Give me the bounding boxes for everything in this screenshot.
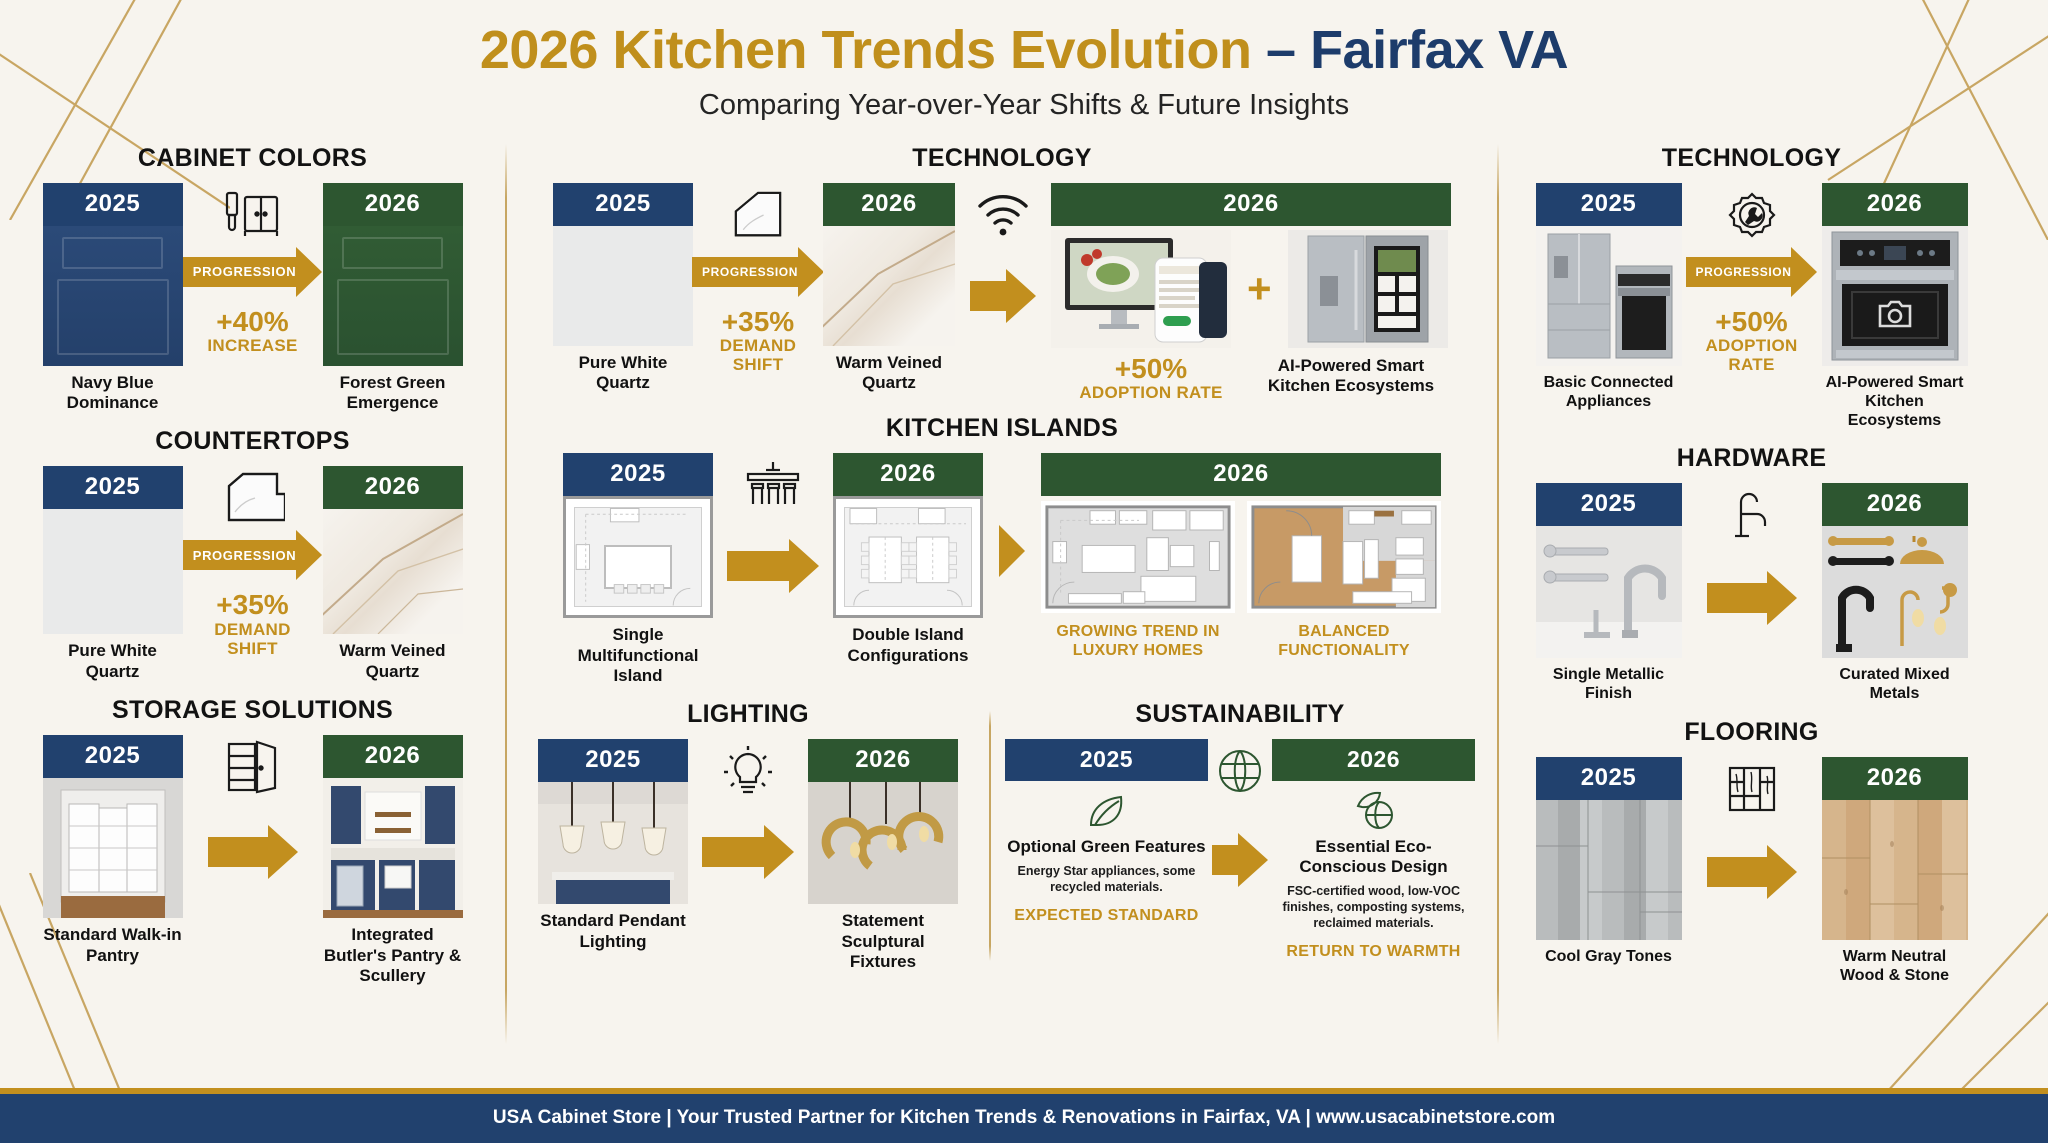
middle-column: TECHNOLOGY 2025 Pure White Quartz	[507, 144, 1497, 1044]
section-hardware: HARDWARE 2025	[1499, 444, 2004, 703]
panel-caption: Curated Mixed Metals	[1822, 665, 1968, 703]
stat-block: +50% ADOPTION RATE	[1056, 354, 1246, 402]
section-sustainability: SUSTAINABILITY 2025 Optional Green Featu…	[991, 700, 1489, 972]
image-single-metallic-finish	[1536, 526, 1682, 658]
bottom-middle-row: LIGHTING 2025	[507, 700, 1497, 972]
year-badge-2025: 2025	[1005, 739, 1208, 781]
progression-label: PROGRESSION	[1686, 257, 1792, 287]
panel-2025: 2025 Navy Blue Dominance	[43, 183, 183, 414]
wifi-icon	[976, 183, 1030, 247]
progression-arrow	[1707, 845, 1797, 899]
page-subtitle: Comparing Year-over-Year Shifts & Future…	[0, 89, 2048, 122]
year-badge-2026: 2026	[833, 453, 983, 496]
stat-percent: +40%	[207, 307, 297, 336]
panel-caption: Cool Gray Tones	[1545, 947, 1672, 966]
image-connected-appliances	[1536, 226, 1682, 366]
panel-caption: Integrated Butler's Pantry & Scullery	[323, 925, 463, 986]
section-title: COUNTERTOPS	[14, 427, 491, 456]
page-title-gold: 2026 Kitchen Trends Evolution	[480, 20, 1252, 80]
section-cabinet-colors: CABINET COLORS 2025 Navy Blue Dominance	[0, 144, 505, 414]
panel-2026-luxury: 2026	[1041, 453, 1441, 661]
panel-2026: 2026 S	[808, 739, 958, 972]
stat-block: +35% DEMAND SHIFT	[720, 307, 796, 374]
year-badge-2026: 2026	[808, 739, 958, 782]
progression-arrow: PROGRESSION	[1686, 247, 1818, 297]
left-column: CABINET COLORS 2025 Navy Blue Dominance	[0, 144, 505, 1044]
page-title-navy: – Fairfax VA	[1266, 20, 1568, 80]
section-title: SUSTAINABILITY	[1005, 700, 1475, 729]
leaf-globe-icon	[1352, 787, 1396, 833]
image-sculptural-fixtures	[808, 782, 958, 904]
connector-technology-right: PROGRESSION +50% ADOPTION RATE	[1682, 183, 1822, 374]
island-stools-icon	[742, 453, 804, 517]
section-title: CABINET COLORS	[14, 144, 491, 173]
panel-2026: 2026 Forest Green Emergence	[323, 183, 463, 414]
triangle-arrow-icon	[999, 525, 1025, 577]
panel-body: Energy Star appliances, some recycled ma…	[1005, 863, 1208, 895]
stat-label-2: SHIFT	[214, 639, 290, 658]
panel-2025: 2025	[1536, 183, 1682, 411]
panel-2025: 2025 Single Multifunctional Island	[563, 453, 713, 686]
stat-percent: +50%	[1705, 307, 1797, 336]
year-badge-2026: 2026	[1822, 483, 1968, 526]
floorplan-single-island	[563, 496, 713, 618]
connector-technology	[955, 183, 1051, 323]
panel-caption: Statement Sculptural Fixtures	[808, 911, 958, 972]
floorplan-double-island	[833, 496, 983, 618]
section-storage-solutions: STORAGE SOLUTIONS 2025	[0, 696, 505, 986]
progression-arrow: PROGRESSION	[183, 530, 322, 580]
section-flooring: FLOORING 2025 Cool Gray Tones	[1499, 718, 2004, 985]
page-title: 2026 Kitchen Trends Evolution – Fairfax …	[0, 22, 2048, 79]
panel-2026: 2026	[323, 735, 463, 986]
year-badge-2025: 2025	[538, 739, 688, 782]
year-badge-2026: 2026	[823, 183, 955, 226]
year-badge-2026: 2026	[1822, 757, 1968, 800]
stat-percent: +35%	[214, 590, 290, 619]
progression-arrow	[970, 269, 1036, 323]
connector-hardware	[1682, 483, 1822, 625]
leaf-icon	[1085, 787, 1127, 833]
panel-caption: Warm Neutral Wood & Stone	[1822, 947, 1968, 985]
year-badge-2026: 2026	[323, 466, 463, 509]
gear-wrench-icon	[1726, 183, 1778, 247]
year-badge-2026: 2026	[1822, 183, 1968, 226]
year-badge-2025: 2025	[563, 453, 713, 496]
connector-countertop-mid: PROGRESSION +35% DEMAND SHIFT	[693, 183, 823, 374]
panel-2025: 2025 Cool Gray Tones	[1536, 757, 1682, 966]
paint-brush-cabinet-icon	[223, 183, 283, 247]
swatch-green-cabinet	[323, 226, 463, 366]
lightbulb-icon	[722, 739, 774, 803]
progression-arrow: PROGRESSION	[183, 247, 322, 297]
section-technology-right: TECHNOLOGY 2025	[1499, 144, 2004, 431]
image-curated-mixed-metals	[1822, 526, 1968, 658]
connector-lighting	[688, 739, 808, 879]
stat-label-1: DEMAND	[214, 620, 290, 639]
image-smart-fridge	[1288, 230, 1448, 348]
faucet-icon	[1727, 483, 1777, 547]
connector-cabinet-colors: PROGRESSION +40% INCREASE	[183, 183, 323, 355]
panel-2026: 2026	[1822, 183, 1968, 431]
connector-arrow-small	[983, 453, 1041, 577]
progression-label: PROGRESSION	[692, 257, 798, 287]
panel-2026: 2026 Warm Veined Quartz	[323, 466, 463, 682]
image-smart-wall-oven	[1822, 226, 1968, 366]
wood-plank-icon	[1726, 757, 1778, 821]
page-footer: USA Cabinet Store | Your Trusted Partner…	[0, 1088, 2048, 1143]
globe-icon	[1217, 739, 1263, 803]
panel-caption: Warm Veined Quartz	[823, 353, 955, 394]
progression-arrow	[702, 825, 794, 879]
panel-caption: AI-Powered Smart Kitchen Ecosystems	[1822, 373, 1968, 431]
progression-arrow	[208, 825, 298, 879]
year-badge-2025: 2025	[43, 183, 183, 226]
connector-sustainability	[1208, 739, 1272, 887]
panel-caption-luxury: GROWING TREND IN LUXURY HOMES	[1041, 623, 1235, 661]
panel-caption: AI-Powered Smart Kitchen Ecosystems	[1256, 356, 1446, 397]
image-butlers-pantry	[323, 778, 463, 918]
year-badge-2025: 2025	[1536, 483, 1682, 526]
panel-tag: RETURN TO WARMTH	[1286, 943, 1460, 961]
main-grid: CABINET COLORS 2025 Navy Blue Dominance	[0, 144, 2048, 1044]
image-smart-display-app	[1051, 230, 1231, 348]
swatch-warm-veined-quartz	[323, 509, 463, 634]
panel-caption: Single Multifunctional Island	[563, 625, 713, 686]
panel-2026-countertop: 2026 Warm Veined Quartz	[823, 183, 955, 394]
panel-body: FSC-certified wood, low-VOC finishes, co…	[1272, 883, 1475, 931]
year-badge-2025: 2025	[553, 183, 693, 226]
section-title: LIGHTING	[521, 700, 975, 729]
panel-tag: EXPECTED STANDARD	[1014, 907, 1198, 925]
progression-label: PROGRESSION	[183, 257, 296, 287]
panel-caption: Single Metallic Finish	[1536, 665, 1682, 703]
stat-label: INCREASE	[207, 336, 297, 355]
year-badge-2025: 2025	[1536, 757, 1682, 800]
section-title: KITCHEN ISLANDS	[521, 414, 1483, 443]
swatch-pure-white-quartz	[553, 226, 693, 346]
panel-caption: Double Island Configurations	[833, 625, 983, 666]
plus-symbol: +	[1243, 265, 1276, 313]
page-header: 2026 Kitchen Trends Evolution – Fairfax …	[0, 0, 2048, 122]
year-badge-2026: 2026	[323, 183, 463, 226]
progression-arrow	[1707, 571, 1797, 625]
panel-heading: Essential Eco-Conscious Design	[1272, 837, 1475, 877]
year-badge-2026: 2026	[323, 735, 463, 778]
floorplan-luxury-kitchen	[1041, 501, 1235, 613]
stat-label-2: RATE	[1705, 355, 1797, 374]
progression-arrow	[1212, 833, 1268, 887]
swatch-pure-white-quartz	[43, 509, 183, 634]
connector-flooring	[1682, 757, 1822, 899]
stat-label: ADOPTION RATE	[1056, 383, 1246, 402]
stat-percent: +50%	[1056, 354, 1246, 383]
panel-2026-tech: 2026	[1051, 183, 1451, 402]
section-lighting: LIGHTING 2025	[507, 700, 989, 972]
panel-2025: 2025 Pure White Quartz	[43, 466, 183, 682]
image-walk-in-pantry	[43, 778, 183, 918]
panel-heading: Optional Green Features	[1007, 837, 1205, 857]
swatch-warm-wood-flooring	[1822, 800, 1968, 940]
year-badge-2025: 2025	[43, 735, 183, 778]
panel-2025: 2025 Standard Pendant Lighting	[538, 739, 688, 952]
swatch-cool-gray-flooring	[1536, 800, 1682, 940]
panel-caption-balanced: BALANCED FUNCTIONALITY	[1247, 623, 1441, 661]
panel-2025: 2025 Pure White Quartz	[553, 183, 693, 394]
year-badge-2026: 2026	[1051, 183, 1451, 226]
connector-islands	[713, 453, 833, 593]
stat-block: +50% ADOPTION RATE	[1705, 307, 1797, 374]
stat-block: +35% DEMAND SHIFT	[214, 590, 290, 657]
footer-text: USA Cabinet Store | Your Trusted Partner…	[493, 1107, 1555, 1128]
progression-arrow: PROGRESSION	[692, 247, 824, 297]
progression-label: PROGRESSION	[183, 540, 296, 570]
stat-label-2: SHIFT	[720, 355, 796, 374]
section-countertops: COUNTERTOPS 2025 Pure White Quartz	[0, 427, 505, 682]
stat-label-1: DEMAND	[720, 336, 796, 355]
infographic-page: 2026 Kitchen Trends Evolution – Fairfax …	[0, 0, 2048, 1143]
panel-2025: 2025	[43, 735, 183, 966]
panel-2026: 2026	[1822, 483, 1968, 703]
panel-caption: Basic Connected Appliances	[1536, 373, 1682, 411]
panel-2026: 2026 Warm Neutral Wood & Stone	[1822, 757, 1968, 985]
stat-block: +40% INCREASE	[207, 307, 297, 355]
panel-caption: Standard Walk-in Pantry	[43, 925, 183, 966]
connector-storage	[183, 735, 323, 879]
section-title: TECHNOLOGY	[1513, 144, 1990, 173]
countertop-slab-icon	[728, 183, 788, 247]
panel-caption: Navy Blue Dominance	[43, 373, 183, 414]
countertop-slab-icon	[221, 466, 285, 530]
panel-2026: 2026	[833, 453, 983, 666]
image-pendant-lighting	[538, 782, 688, 904]
section-title: FLOORING	[1513, 718, 1990, 747]
year-badge-2026: 2026	[1272, 739, 1475, 781]
panel-2025: 2025 Optional Green Features Energy Star…	[1005, 739, 1208, 925]
panel-caption: Warm Veined Quartz	[323, 641, 463, 682]
stat-label-1: ADOPTION	[1705, 336, 1797, 355]
stat-percent: +35%	[720, 307, 796, 336]
year-badge-2025: 2025	[43, 466, 183, 509]
panel-caption: Standard Pendant Lighting	[538, 911, 688, 952]
section-title: HARDWARE	[1513, 444, 1990, 473]
floorplan-balanced-kitchen	[1247, 501, 1441, 613]
section-kitchen-islands: KITCHEN ISLANDS 2025	[507, 414, 1497, 686]
swatch-navy-cabinet	[43, 226, 183, 366]
panel-caption: Pure White Quartz	[553, 353, 693, 394]
progression-arrow	[727, 539, 819, 593]
panel-caption: Pure White Quartz	[43, 641, 183, 682]
right-column: TECHNOLOGY 2025	[1499, 144, 2004, 1044]
panel-caption: Forest Green Emergence	[323, 373, 463, 414]
section-technology-middle: TECHNOLOGY 2025 Pure White Quartz	[507, 144, 1497, 402]
section-title: TECHNOLOGY	[521, 144, 1483, 173]
panel-2025: 2025 Single	[1536, 483, 1682, 703]
year-badge-2025: 2025	[1536, 183, 1682, 226]
pantry-cabinet-icon	[225, 735, 281, 799]
connector-countertops: PROGRESSION +35% DEMAND SHIFT	[183, 466, 323, 657]
section-title: STORAGE SOLUTIONS	[14, 696, 491, 725]
swatch-warm-veined-quartz	[823, 226, 955, 346]
panel-2026: 2026 Essential Eco-Conscious Design FSC-…	[1272, 739, 1475, 961]
year-badge-2026: 2026	[1041, 453, 1441, 496]
